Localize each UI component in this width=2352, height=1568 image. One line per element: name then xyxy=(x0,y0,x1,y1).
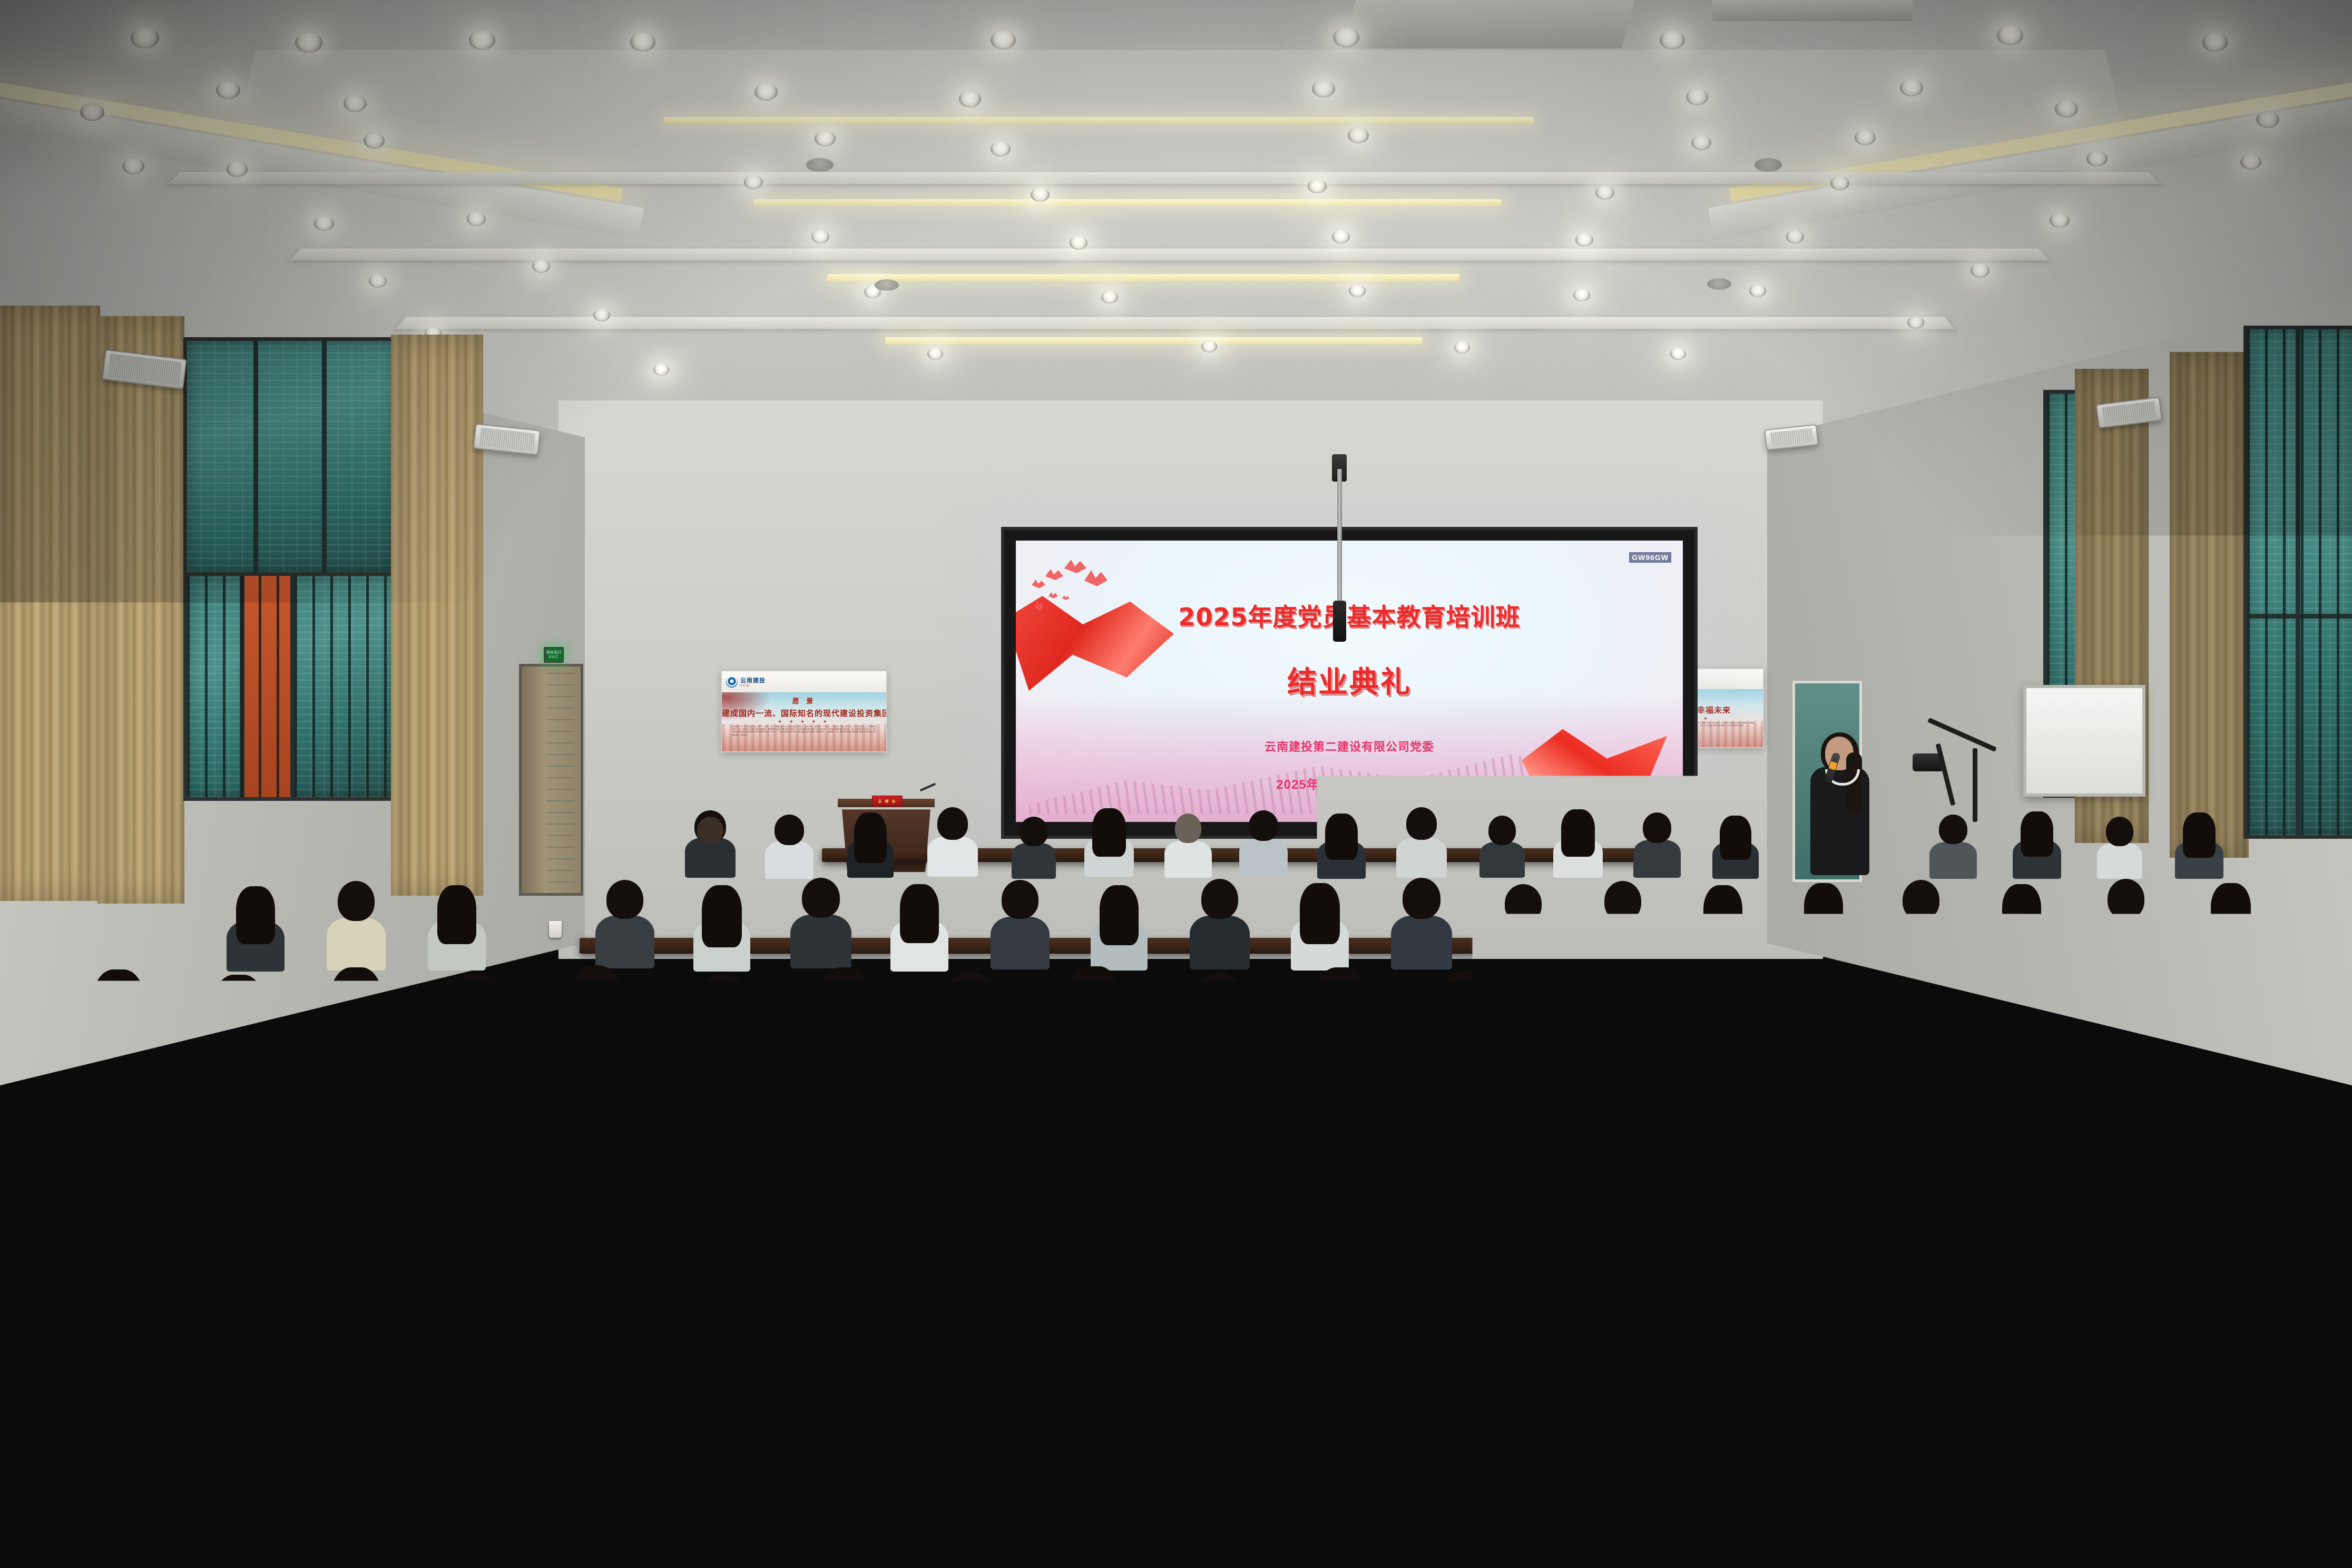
downlight xyxy=(122,158,144,174)
downlight xyxy=(364,133,385,149)
audience-person xyxy=(316,1094,422,1255)
audience-person xyxy=(1551,966,1631,1086)
audience-person xyxy=(1553,809,1603,875)
audience-person xyxy=(183,1102,283,1256)
hair xyxy=(1002,880,1038,919)
long-hair xyxy=(1325,814,1358,860)
downlight xyxy=(1900,79,1923,96)
torso xyxy=(1802,1017,1882,1093)
audience-person xyxy=(890,884,948,968)
hair xyxy=(1249,810,1278,841)
hair xyxy=(1440,971,1490,1023)
hair xyxy=(699,974,748,1025)
ceiling-band-3 xyxy=(395,317,1955,329)
long-hair xyxy=(2021,811,2053,857)
downlight xyxy=(467,212,486,226)
hair xyxy=(802,878,840,918)
audience-person xyxy=(1633,1247,1784,1484)
hair xyxy=(2106,817,2133,846)
torso xyxy=(1190,916,1250,969)
downlight xyxy=(2055,100,2078,117)
downlight xyxy=(815,131,836,146)
red-certificate xyxy=(1802,1406,1934,1458)
red-certificate xyxy=(1396,1176,1465,1207)
long-hair xyxy=(2002,884,2041,943)
torso xyxy=(896,1160,1001,1261)
banner-header-left: 云南建投 YCIH xyxy=(722,671,886,692)
paper-cup xyxy=(912,1386,942,1433)
window-brick-texture xyxy=(187,341,396,573)
long-hair xyxy=(2183,812,2216,858)
audience-person xyxy=(885,1249,1034,1484)
hair xyxy=(1604,881,1641,921)
torso xyxy=(327,918,386,971)
long-hair xyxy=(70,1096,139,1204)
long-hair xyxy=(1942,971,1994,1050)
downlight xyxy=(2202,33,2228,52)
banner-logo-subtext: YCIH xyxy=(740,684,766,688)
banner-title-vision: 愿 景 xyxy=(722,695,886,705)
downlight xyxy=(314,216,334,231)
audience-person xyxy=(437,973,515,1087)
audience-person xyxy=(200,975,277,1087)
hair xyxy=(1643,812,1671,843)
audience-person xyxy=(748,1098,851,1255)
downlight xyxy=(630,33,655,52)
downlight xyxy=(593,309,610,321)
hair xyxy=(1650,1097,1717,1167)
downlight xyxy=(1348,128,1369,143)
window-mullion xyxy=(253,341,258,573)
torso xyxy=(1633,1342,1784,1491)
torso xyxy=(337,1347,483,1493)
long-hair xyxy=(2211,883,2251,943)
long-hair xyxy=(2228,1265,2325,1418)
laptop xyxy=(2150,917,2213,944)
downlight xyxy=(1749,285,1766,297)
torso xyxy=(1259,1346,1407,1493)
audience-person xyxy=(1633,812,1681,875)
audience-person xyxy=(1802,967,1882,1086)
audience-person xyxy=(556,965,638,1085)
audience-seating xyxy=(0,780,2352,1568)
screen-title-line1: 2025年度党员基本教育培训班 xyxy=(1016,598,1683,633)
bird-icon xyxy=(1032,580,1045,589)
audience-person xyxy=(1391,878,1452,966)
hair xyxy=(1175,814,1201,843)
hair xyxy=(5,1243,100,1344)
banner-stars-left: ★ ★ ★ ★ ★ xyxy=(722,719,886,724)
hair xyxy=(1500,1091,1569,1163)
audience-person xyxy=(1291,883,1349,968)
audience-person xyxy=(79,969,158,1085)
ceiling-tube-light-1 xyxy=(664,117,1533,124)
ceiling-tube-light-3 xyxy=(827,274,1459,281)
audience-person xyxy=(2097,817,2142,876)
downlight xyxy=(2240,154,2261,170)
downlight xyxy=(1686,89,1708,105)
hair xyxy=(1100,1270,1191,1367)
emergency-exit-sign-left: 安全出口 EXIT xyxy=(544,647,564,663)
torso xyxy=(1396,838,1447,878)
torso xyxy=(932,1020,1010,1093)
long-hair xyxy=(330,967,383,1047)
audience-person xyxy=(337,1254,483,1486)
downlight xyxy=(1332,230,1350,243)
paper-cup xyxy=(1004,1170,1025,1199)
torso xyxy=(1075,1360,1216,1502)
downlight xyxy=(227,161,248,177)
document-paper xyxy=(746,1034,803,1053)
long-hair xyxy=(1060,1099,1129,1206)
audience-person xyxy=(227,886,285,969)
window-security-bars xyxy=(2247,329,2352,835)
downlight xyxy=(1691,135,1711,150)
audience-person xyxy=(2096,879,2156,966)
torso xyxy=(1479,842,1525,878)
ceiling-vent xyxy=(1707,278,1731,290)
audience-person xyxy=(1054,966,1134,1085)
hair xyxy=(476,1099,541,1169)
downlight xyxy=(1907,316,1924,329)
downlight xyxy=(1454,341,1470,354)
downlight xyxy=(653,364,669,376)
downlight xyxy=(369,274,387,288)
long-hair xyxy=(910,1249,1008,1405)
audience-person xyxy=(1479,816,1525,875)
hair xyxy=(606,880,643,919)
window-security-bars xyxy=(187,576,396,797)
audience-person xyxy=(932,972,1010,1086)
water-bottle xyxy=(1027,1349,1060,1444)
downlight xyxy=(811,230,829,243)
torso xyxy=(556,1016,638,1093)
audience-person xyxy=(1012,817,1056,876)
audience-person xyxy=(595,880,654,964)
hair xyxy=(572,965,622,1019)
hair xyxy=(915,1093,982,1163)
window-left-upper xyxy=(183,337,399,576)
downlight xyxy=(754,83,778,101)
downlight xyxy=(1201,340,1217,352)
standing-speaker xyxy=(1807,737,1873,874)
audience-person xyxy=(1932,1098,2035,1255)
exit-sign-label-en: EXIT xyxy=(549,655,558,659)
downlight xyxy=(1070,236,1087,250)
downlight xyxy=(1575,233,1593,247)
audience-person xyxy=(2055,967,2135,1086)
downlight xyxy=(532,259,550,273)
torso xyxy=(1164,841,1212,878)
bird-icon xyxy=(1064,560,1086,574)
downlight xyxy=(1312,80,1335,97)
head xyxy=(697,817,723,844)
audience-person xyxy=(0,1243,126,1475)
audience-person xyxy=(927,807,978,873)
torso xyxy=(1892,917,1951,969)
audience-person xyxy=(1675,972,1755,1087)
downlight xyxy=(1830,176,1849,190)
torso xyxy=(685,1021,762,1094)
downlight xyxy=(295,33,322,53)
ceiling-vent xyxy=(1755,158,1782,172)
hair xyxy=(338,881,375,921)
downlight xyxy=(1670,348,1686,360)
audience-person xyxy=(1180,973,1258,1087)
hair xyxy=(775,815,804,845)
bird-icon xyxy=(1084,570,1108,587)
audience-person xyxy=(991,880,1050,966)
hair xyxy=(1660,1247,1757,1349)
torso xyxy=(1929,842,1977,879)
torso xyxy=(991,917,1050,969)
downlight xyxy=(1031,188,1050,202)
audience-person xyxy=(685,974,762,1087)
audience-person xyxy=(1091,885,1148,968)
long-hair xyxy=(854,812,887,863)
paper-cup xyxy=(1410,1027,1427,1051)
downlight xyxy=(131,27,159,48)
torso xyxy=(1593,918,1652,971)
torso xyxy=(765,841,814,879)
hair xyxy=(363,1254,457,1353)
audience-person xyxy=(1694,885,1751,968)
ceiling-tube-light-2 xyxy=(753,199,1502,206)
downlight xyxy=(1349,285,1366,297)
audience-person xyxy=(1426,971,1505,1087)
hair xyxy=(1903,880,1939,920)
torso xyxy=(1633,840,1681,878)
hair xyxy=(1939,815,1967,844)
long-hair xyxy=(1300,883,1340,944)
laptop xyxy=(2229,1017,2308,1054)
long-hair xyxy=(1703,885,1742,945)
audience-person xyxy=(847,812,894,875)
long-hair xyxy=(1949,1098,2017,1203)
downlight xyxy=(1855,130,1876,145)
downlight xyxy=(344,95,367,112)
audience-person xyxy=(1593,881,1652,967)
long-hair xyxy=(1852,1268,1947,1419)
downlight xyxy=(1786,230,1804,243)
screen-organization: 云南建投第二建设有限公司党委 xyxy=(1016,738,1683,754)
audience-person xyxy=(1185,1092,1292,1255)
ceiling-beam-2 xyxy=(1712,0,1913,21)
hair xyxy=(1505,884,1542,923)
audience-person xyxy=(806,967,886,1086)
long-hair xyxy=(92,969,145,1052)
audience-person xyxy=(1317,814,1366,876)
ceiling-band-1 xyxy=(167,172,2162,184)
long-hair xyxy=(1689,972,1741,1052)
long-hair xyxy=(1067,966,1120,1047)
downlight xyxy=(2050,213,2070,228)
long-hair xyxy=(702,885,742,947)
hair xyxy=(729,1265,821,1363)
downlight xyxy=(1660,31,1685,50)
window-right-main xyxy=(2243,326,2352,839)
window-left-lower xyxy=(183,572,399,801)
torso xyxy=(1481,1160,1588,1263)
torso xyxy=(1185,1160,1292,1262)
long-hair xyxy=(213,975,264,1054)
audience-person xyxy=(2081,1091,2189,1255)
downlight xyxy=(744,175,763,189)
ceiling-tube-light-4 xyxy=(885,337,1423,344)
window-mullion xyxy=(322,341,327,573)
ceiling-band-2 xyxy=(289,249,2051,261)
downlight xyxy=(1971,263,1990,278)
audience-person xyxy=(2175,812,2223,876)
long-hair xyxy=(900,884,939,943)
audience-person xyxy=(1396,807,1447,874)
downlight xyxy=(1101,291,1118,303)
audience-person xyxy=(1084,808,1134,874)
torso xyxy=(0,1336,126,1484)
hair xyxy=(937,807,968,840)
audience-person xyxy=(765,815,814,876)
hair xyxy=(1195,973,1243,1024)
screen-title-line2: 结业典礼 xyxy=(1016,659,1683,701)
torso xyxy=(790,915,851,968)
audience-person xyxy=(704,1265,846,1491)
red-certificate xyxy=(474,1402,590,1452)
long-hair xyxy=(819,967,873,1050)
banner-body-left: 愿 景 建成国内一流、国际知名的现代建设投资集团 ★ ★ ★ ★ ★ 围绕集团"… xyxy=(722,692,886,751)
audience-person xyxy=(158,1275,296,1496)
audience-person xyxy=(1781,1092,1887,1255)
hair xyxy=(2037,1249,2134,1350)
torso xyxy=(1551,1017,1631,1094)
long-hair xyxy=(1092,808,1126,857)
torso xyxy=(1426,1020,1505,1094)
document-paper xyxy=(1464,1420,1639,1457)
audience-person xyxy=(53,1096,156,1254)
laptop xyxy=(1834,925,1886,948)
long-hair xyxy=(437,885,476,944)
screen-watermark-badge: GW96GW xyxy=(1629,552,1671,563)
audience-person xyxy=(601,1092,707,1255)
hair xyxy=(1285,1252,1381,1353)
bird-icon xyxy=(1048,592,1058,599)
torso xyxy=(2097,843,2142,879)
long-hair xyxy=(181,1275,273,1426)
ycih-logo-icon xyxy=(726,676,738,688)
audience-person xyxy=(1631,1097,1736,1255)
audience-person xyxy=(1164,814,1212,875)
torso xyxy=(1012,843,1056,879)
downlight xyxy=(959,91,981,107)
hair xyxy=(1201,879,1238,919)
torso xyxy=(2096,916,2156,969)
audience-person xyxy=(685,810,736,874)
long-hair xyxy=(1561,809,1595,857)
banner-logo-text: 云南建投 xyxy=(740,676,766,684)
long-hair xyxy=(2069,967,2121,1047)
audience-person xyxy=(1454,1265,1598,1492)
audience-person xyxy=(2013,811,2061,876)
audience-person xyxy=(1928,971,2007,1087)
conference-hall-photo: 安全出口 EXIT 云南建投 YCIH 愿 景 建成国内一流、国际知名的现代建设… xyxy=(0,0,2352,1568)
hair xyxy=(1406,807,1437,840)
audience-person xyxy=(1494,884,1552,968)
audience-person xyxy=(1892,880,1951,966)
audience-person xyxy=(1828,1268,1971,1492)
audience-person xyxy=(790,878,851,965)
paper-cup xyxy=(506,1031,522,1053)
audience-person xyxy=(1712,816,1759,876)
ceiling-vent xyxy=(875,279,899,291)
long-hair xyxy=(1478,1265,1573,1416)
banner-slogan-vision: 建成国内一流、国际知名的现代建设投资集团 xyxy=(722,708,886,719)
watermark-text: GW96GW xyxy=(1631,553,1670,562)
torso xyxy=(595,916,654,968)
downlight xyxy=(991,141,1011,156)
downlight xyxy=(991,31,1016,50)
long-hair xyxy=(450,973,502,1051)
torso xyxy=(1180,1021,1258,1094)
audience-person xyxy=(1043,1099,1145,1255)
long-hair xyxy=(553,1243,653,1402)
audience-person xyxy=(1929,815,1977,876)
long-hair xyxy=(1315,967,1368,1046)
audience-person xyxy=(693,885,750,968)
downlight xyxy=(1308,179,1327,193)
audience-person xyxy=(1301,967,1381,1086)
ceiling-beam-1 xyxy=(1342,0,1635,48)
long-hair xyxy=(334,1094,404,1203)
hair xyxy=(2108,879,2144,919)
hair xyxy=(1403,878,1440,919)
hair xyxy=(1566,966,1616,1020)
long-hair xyxy=(236,886,275,944)
paper-cup xyxy=(549,921,562,938)
audience-person xyxy=(1481,1091,1588,1255)
downlight xyxy=(469,31,495,50)
torso xyxy=(748,1164,851,1263)
hanging-microphone-head xyxy=(1333,601,1346,642)
long-hair xyxy=(2099,1091,2171,1201)
hair xyxy=(1020,817,1048,846)
long-hair xyxy=(1720,816,1751,860)
document-paper xyxy=(1981,1417,2171,1454)
water-bottle xyxy=(622,1159,642,1202)
audience-person xyxy=(457,1099,560,1255)
audience-person xyxy=(896,1093,1001,1255)
audience-person xyxy=(327,881,386,967)
downlight xyxy=(1595,185,1614,200)
document-paper xyxy=(832,1183,912,1203)
downlight xyxy=(1997,25,2023,45)
bird-icon xyxy=(1045,569,1063,581)
torso xyxy=(1239,839,1288,877)
torso xyxy=(1494,920,1552,972)
downlight xyxy=(2256,111,2279,128)
ceiling-vent xyxy=(806,158,834,172)
torso xyxy=(927,837,978,877)
hair xyxy=(1488,816,1516,845)
torso xyxy=(1391,916,1452,969)
exit-sign-label-cn: 安全出口 xyxy=(546,651,561,654)
audience-person xyxy=(316,967,396,1085)
audience-person xyxy=(428,885,486,968)
audience-person xyxy=(2202,1265,2350,1494)
long-hair xyxy=(200,1102,267,1208)
hair xyxy=(767,1098,832,1167)
long-hair xyxy=(1100,885,1139,945)
downlight xyxy=(927,348,943,360)
downlight xyxy=(80,103,104,121)
